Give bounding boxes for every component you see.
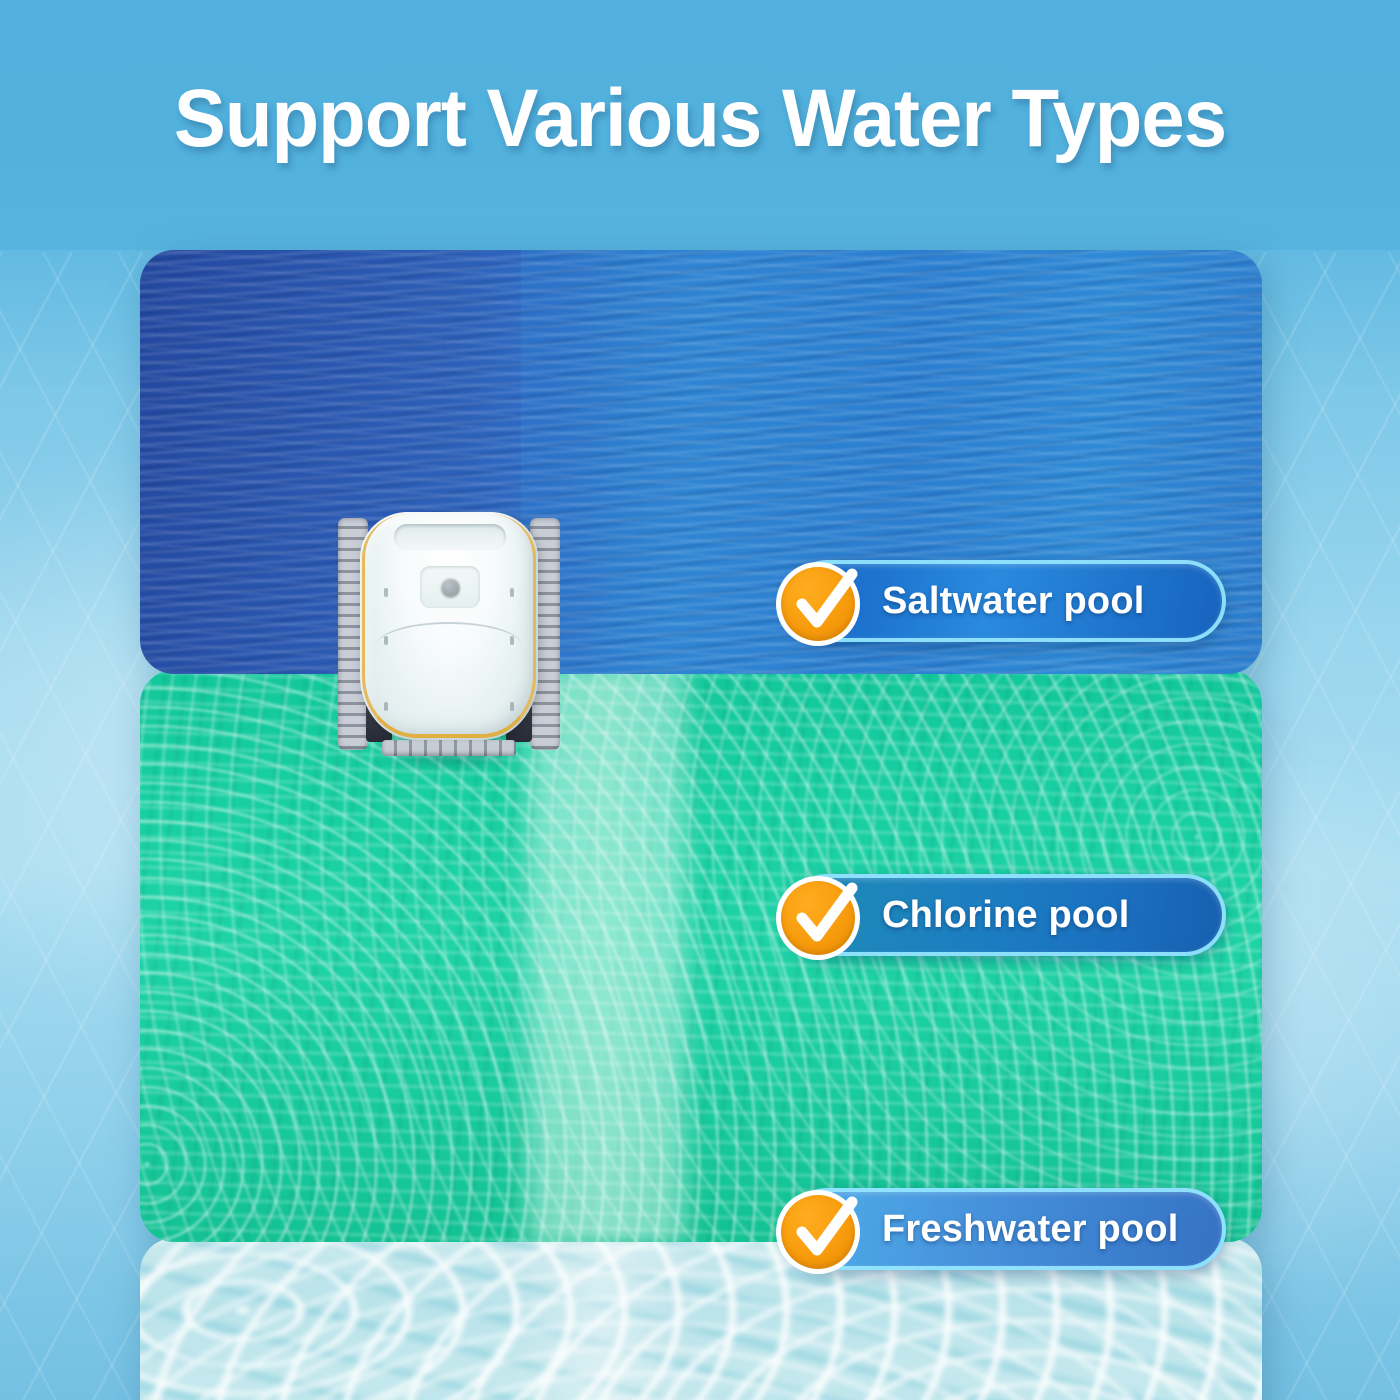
robot-vent-dot — [384, 636, 388, 645]
check-circle-icon — [776, 876, 860, 960]
promo-graphic: Support Various Water Types — [0, 0, 1400, 1400]
feature-label: Freshwater pool — [882, 1208, 1179, 1251]
robot-vent-dot — [510, 702, 514, 711]
robot-power-button[interactable] — [441, 578, 460, 597]
water-types-card — [140, 250, 1262, 1306]
checkmark-glyph — [776, 1180, 872, 1276]
robot-vent-dot — [384, 588, 388, 597]
feature-label: Saltwater pool — [882, 580, 1145, 623]
page-title: Support Various Water Types — [35, 72, 1365, 166]
pool-cleaning-robot — [338, 512, 560, 760]
robot-vent-dot — [384, 702, 388, 711]
feature-label: Chlorine pool — [882, 894, 1129, 937]
check-circle-icon — [776, 562, 860, 646]
check-circle-icon — [776, 1190, 860, 1274]
checkmark-glyph — [776, 552, 872, 648]
feature-pill-saltwater[interactable]: Saltwater pool — [786, 560, 1226, 642]
checkmark-glyph — [776, 866, 872, 962]
robot-top-vent — [394, 524, 506, 550]
feature-pill-freshwater[interactable]: Freshwater pool — [786, 1188, 1226, 1270]
chlorine-ripples — [140, 670, 1262, 1242]
chlorine-water-panel — [140, 670, 1262, 1242]
robot-bottom-brush — [382, 740, 516, 756]
feature-pill-chlorine[interactable]: Chlorine pool — [786, 874, 1226, 956]
robot-vent-dot — [510, 588, 514, 597]
freshwater-clean-lane — [510, 1238, 690, 1400]
robot-vent-dot — [510, 636, 514, 645]
